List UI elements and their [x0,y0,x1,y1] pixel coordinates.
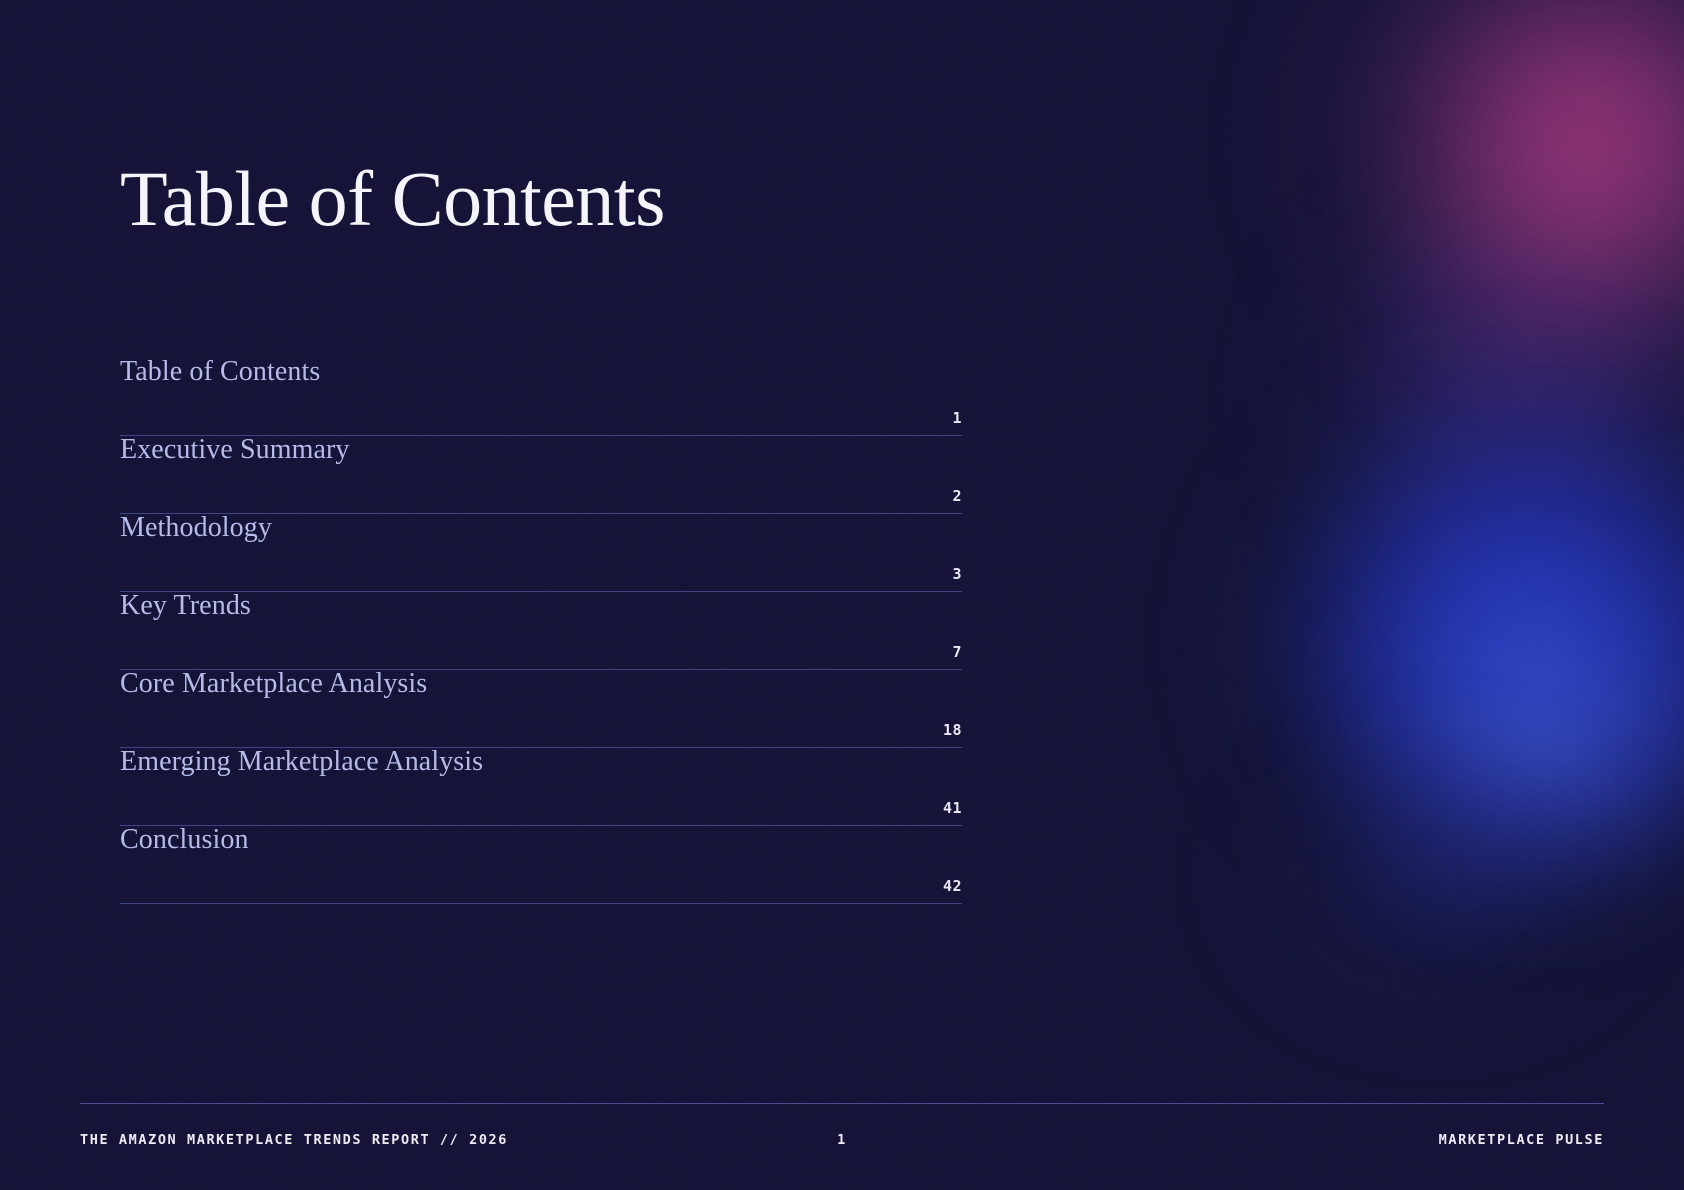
report-page: Table of Contents Table of Contents 1 Ex… [0,0,1684,1190]
toc-entry-emerging-marketplace-analysis[interactable]: Emerging Marketplace Analysis 41 [120,748,962,826]
toc-entry-page-number: 3 [952,567,962,591]
toc-entry-page-number: 42 [943,879,962,903]
page-title: Table of Contents [120,160,665,238]
toc-entry-page-number: 18 [943,723,962,747]
page-content: Table of Contents Table of Contents 1 Ex… [0,0,1684,1190]
toc-entry-table-of-contents[interactable]: Table of Contents 1 [120,358,962,436]
toc-entry-page-number: 1 [952,411,962,435]
toc-entry-label: Core Marketplace Analysis [120,670,427,698]
toc-entry-key-trends[interactable]: Key Trends 7 [120,592,962,670]
toc-entry-label: Conclusion [120,826,249,854]
toc-entry-label: Methodology [120,514,272,542]
toc-entry-conclusion[interactable]: Conclusion 42 [120,826,962,904]
table-of-contents-list: Table of Contents 1 Executive Summary 2 … [120,358,962,904]
toc-entry-core-marketplace-analysis[interactable]: Core Marketplace Analysis 18 [120,670,962,748]
toc-entry-page-number: 2 [952,489,962,513]
toc-entry-page-number: 41 [943,801,962,825]
toc-entry-executive-summary[interactable]: Executive Summary 2 [120,436,962,514]
toc-entry-page-number: 7 [952,645,962,669]
toc-entry-label: Key Trends [120,592,251,620]
page-footer: THE AMAZON MARKETPLACE TRENDS REPORT // … [80,1128,1604,1152]
toc-entry-label: Emerging Marketplace Analysis [120,748,483,776]
toc-entry-methodology[interactable]: Methodology 3 [120,514,962,592]
toc-entry-label: Table of Contents [120,358,320,386]
toc-entry-label: Executive Summary [120,436,350,464]
footer-page-number: 1 [80,1132,1604,1148]
footer-divider [80,1103,1604,1104]
